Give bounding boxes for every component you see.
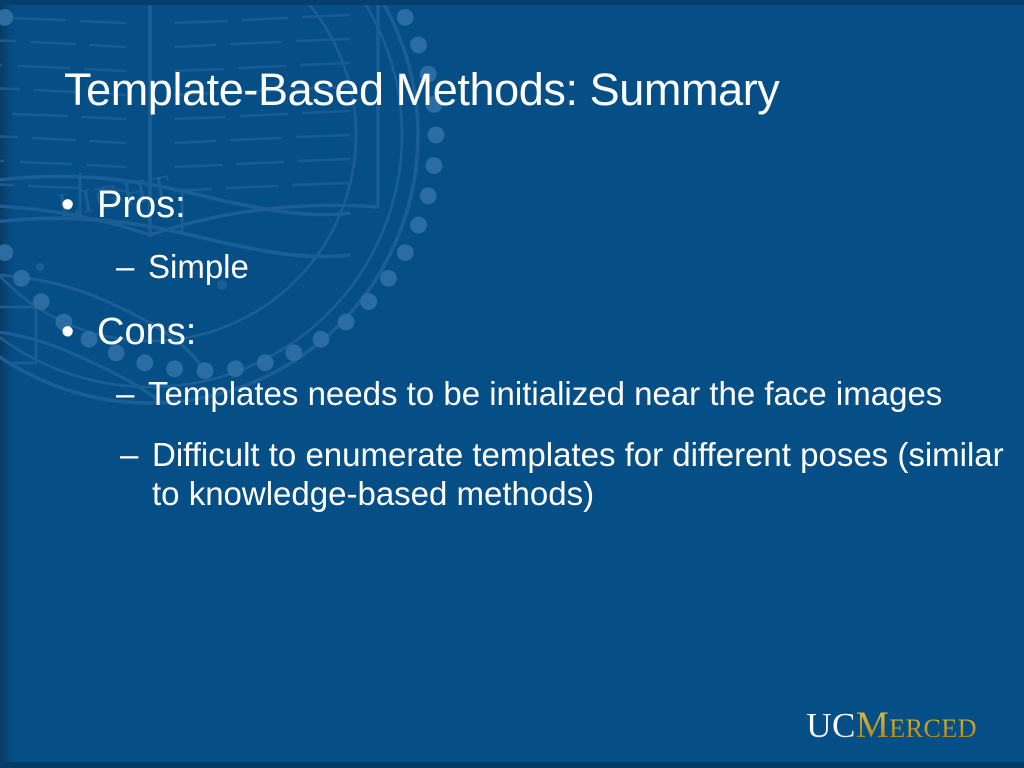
bullet-text: Cons:: [97, 311, 196, 353]
bullet-templates-initialized: – Templates needs to be initialized near…: [0, 375, 1024, 414]
bullet-dot-icon: •: [61, 313, 74, 351]
spacer: [0, 414, 1024, 436]
bullet-text: Simple: [148, 248, 249, 285]
spacer: [0, 351, 1024, 375]
bullet-text: Pros:: [97, 184, 186, 226]
bullet-cons: • Cons:: [0, 313, 1024, 351]
bullet-text: Difficult to enumerate templates for dif…: [152, 436, 1004, 512]
bullet-dash-icon: –: [116, 248, 134, 287]
bullet-dot-icon: •: [61, 186, 74, 224]
bullet-text: Templates needs to be initialized near t…: [148, 375, 942, 412]
background-bottom-trim: [0, 762, 1024, 768]
slide-body: • Pros: – Simple • Cons: – Templates nee…: [0, 186, 1024, 514]
bullet-difficult-enumerate: – Difficult to enumerate templates for d…: [0, 436, 1024, 514]
spacer: [0, 224, 1024, 248]
uc-merced-logo: UCMerced: [806, 707, 977, 744]
slide-canvas: A LIGHT LET THE MERCED: [0, 0, 1024, 768]
background-top-trim: [0, 0, 1024, 5]
logo-uc-text: UC: [806, 706, 856, 745]
bullet-dash-icon: –: [116, 375, 134, 414]
logo-merced-text: Merced: [856, 705, 977, 746]
slide-title: Template-Based Methods: Summary: [64, 66, 964, 113]
bullet-simple: – Simple: [0, 248, 1024, 287]
bullet-dash-icon: –: [120, 436, 138, 475]
bullet-pros: • Pros:: [0, 186, 1024, 224]
spacer: [0, 287, 1024, 313]
